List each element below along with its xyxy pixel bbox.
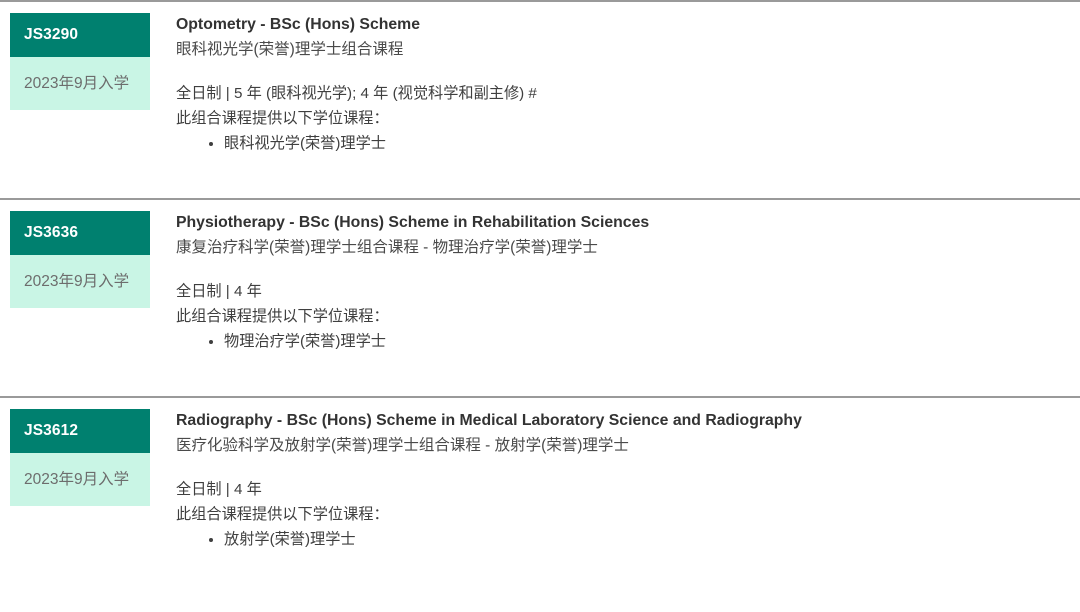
programme-awards-intro: 此组合课程提供以下学位课程： <box>176 502 1066 527</box>
programme-row[interactable]: JS3612 2023年9月入学 Radiography - BSc (Hons… <box>0 398 1080 594</box>
programme-code-badge[interactable]: JS3612 <box>10 409 150 453</box>
list-item: 放射学(荣誉)理学士 <box>224 527 1066 553</box>
programme-listing: JS3290 2023年9月入学 Optometry - BSc (Hons) … <box>0 0 1080 594</box>
programme-awards-intro: 此组合课程提供以下学位课程： <box>176 106 1066 131</box>
programme-mode-duration: 全日制 | 4 年 <box>176 477 1066 502</box>
programme-mode-duration: 全日制 | 5 年 (眼科视光学); 4 年 (视觉科学和副主修) # <box>176 81 1066 106</box>
programme-row[interactable]: JS3636 2023年9月入学 Physiotherapy - BSc (Ho… <box>0 200 1080 396</box>
programme-title-zh: 眼科视光学(荣誉)理学士组合课程 <box>176 37 1066 63</box>
programme-code-panel: JS3612 2023年9月入学 <box>10 409 150 506</box>
programme-title-en[interactable]: Physiotherapy - BSc (Hons) Scheme in Reh… <box>176 211 1066 235</box>
programme-title-en[interactable]: Optometry - BSc (Hons) Scheme <box>176 13 1066 37</box>
programme-intake: 2023年9月入学 <box>10 57 150 96</box>
programme-title-en[interactable]: Radiography - BSc (Hons) Scheme in Medic… <box>176 409 1066 433</box>
programme-code-badge[interactable]: JS3290 <box>10 13 150 57</box>
programme-details: Radiography - BSc (Hons) Scheme in Medic… <box>150 409 1080 553</box>
list-item: 物理治疗学(荣誉)理学士 <box>224 329 1066 355</box>
programme-code-panel: JS3290 2023年9月入学 <box>10 13 150 110</box>
programme-details: Physiotherapy - BSc (Hons) Scheme in Reh… <box>150 211 1080 355</box>
programme-details: Optometry - BSc (Hons) Scheme 眼科视光学(荣誉)理… <box>150 13 1080 157</box>
programme-title-zh: 医疗化验科学及放射学(荣誉)理学士组合课程 - 放射学(荣誉)理学士 <box>176 433 1066 459</box>
programme-row[interactable]: JS3290 2023年9月入学 Optometry - BSc (Hons) … <box>0 2 1080 198</box>
programme-intake: 2023年9月入学 <box>10 453 150 492</box>
programme-title-zh: 康复治疗科学(荣誉)理学士组合课程 - 物理治疗学(荣誉)理学士 <box>176 235 1066 261</box>
programme-code-panel: JS3636 2023年9月入学 <box>10 211 150 308</box>
programme-awards-intro: 此组合课程提供以下学位课程： <box>176 304 1066 329</box>
programme-awards-list: 放射学(荣誉)理学士 <box>176 527 1066 553</box>
programme-code-badge[interactable]: JS3636 <box>10 211 150 255</box>
programme-mode-duration: 全日制 | 4 年 <box>176 279 1066 304</box>
list-item: 眼科视光学(荣誉)理学士 <box>224 131 1066 157</box>
programme-awards-list: 物理治疗学(荣誉)理学士 <box>176 329 1066 355</box>
programme-awards-list: 眼科视光学(荣誉)理学士 <box>176 131 1066 157</box>
programme-intake: 2023年9月入学 <box>10 255 150 294</box>
